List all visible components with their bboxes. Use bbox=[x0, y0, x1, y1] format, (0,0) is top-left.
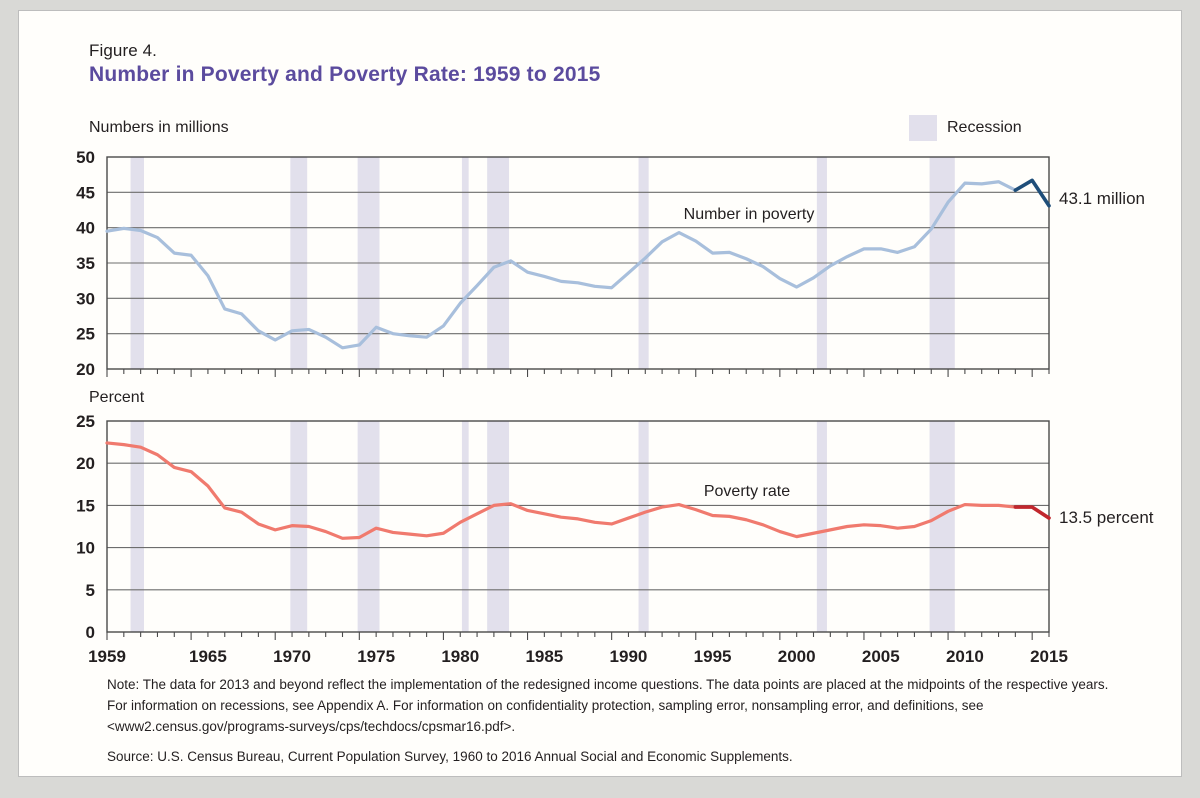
x-tick-label: 1995 bbox=[694, 647, 732, 666]
x-tick-label: 1985 bbox=[525, 647, 563, 666]
x-tick-label: 2015 bbox=[1030, 647, 1068, 666]
y-tick-label: 25 bbox=[76, 412, 95, 431]
recession-band bbox=[131, 421, 144, 632]
source-text: Source: U.S. Census Bureau, Current Popu… bbox=[107, 747, 1127, 768]
figure-notes: Note: The data for 2013 and beyond refle… bbox=[107, 675, 1127, 777]
y-tick-label: 10 bbox=[76, 539, 95, 558]
recession-band bbox=[930, 421, 955, 632]
series-line-redesign bbox=[1015, 507, 1049, 518]
x-tick-label: 1975 bbox=[357, 647, 395, 666]
x-tick-label: 2000 bbox=[778, 647, 816, 666]
note-text: Note: The data for 2013 and beyond refle… bbox=[107, 675, 1127, 738]
recession-band bbox=[462, 421, 469, 632]
recession-band bbox=[487, 421, 509, 632]
figure-page: Figure 4. Number in Poverty and Poverty … bbox=[18, 10, 1182, 777]
y-tick-label: 15 bbox=[76, 496, 95, 515]
series-line bbox=[107, 443, 1015, 538]
y-tick-label: 0 bbox=[86, 623, 95, 642]
x-tick-label: 2010 bbox=[946, 647, 984, 666]
recession-band bbox=[817, 421, 827, 632]
x-tick-label: 1970 bbox=[273, 647, 311, 666]
x-tick-label: 2005 bbox=[862, 647, 900, 666]
y-tick-label: 5 bbox=[86, 581, 95, 600]
y-tick-label: 20 bbox=[76, 454, 95, 473]
series-label: Poverty rate bbox=[704, 483, 790, 500]
recession-band bbox=[639, 421, 649, 632]
x-tick-label: 1965 bbox=[189, 647, 227, 666]
x-tick-label: 1990 bbox=[610, 647, 648, 666]
recession-band bbox=[358, 421, 380, 632]
x-tick-label: 1980 bbox=[441, 647, 479, 666]
x-tick-label: 1959 bbox=[88, 647, 126, 666]
